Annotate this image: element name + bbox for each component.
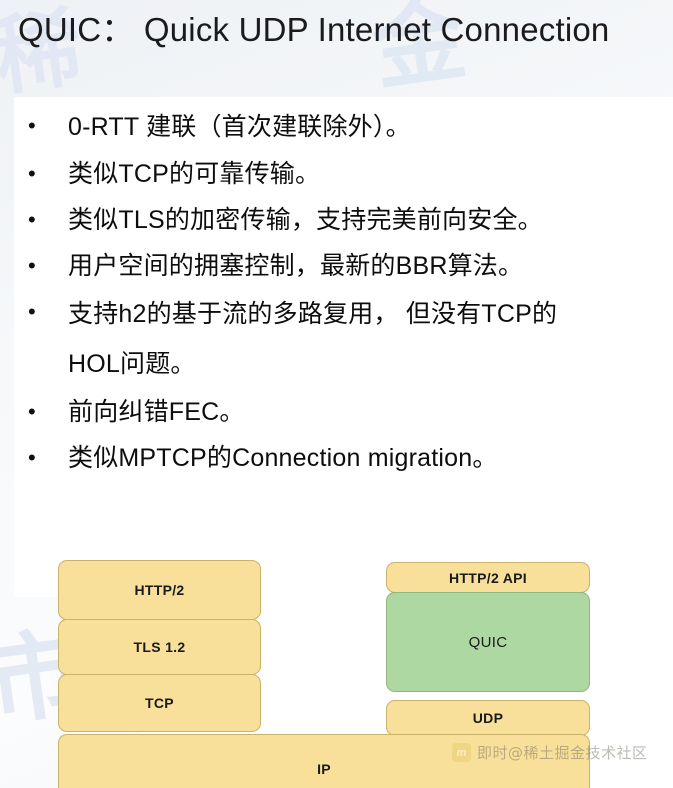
stack-box-tcp[interactable]: TCP — [58, 674, 261, 732]
slide-title: QUIC： Quick UDP Internet Connection — [18, 8, 668, 52]
bullet-marker-icon: • — [28, 197, 36, 243]
list-item-text: 类似TLS的加密传输，支持完美前向安全。 — [68, 197, 543, 243]
bullet-marker-icon: • — [28, 151, 36, 197]
stack-box-quic[interactable]: QUIC — [386, 592, 590, 692]
list-item: • 类似TCP的可靠传输。 — [14, 151, 673, 197]
stack-box-udp[interactable]: UDP — [386, 700, 590, 736]
stack-box-ip[interactable]: IP — [58, 734, 590, 788]
bullet-marker-icon: • — [28, 435, 36, 481]
slide-canvas: 稀 金 市 青 技 QUIC： Quick UDP Internet Conne… — [0, 0, 673, 788]
list-item: • 用户空间的拥塞控制，最新的BBR算法。 — [14, 243, 673, 289]
list-item: • 前向纠错FEC。 — [14, 389, 673, 435]
list-item: • 支持h2的基于流的多路复用， 但没有TCP的 HOL问题。 — [14, 289, 673, 389]
bullet-marker-icon: • — [28, 243, 36, 289]
bullet-marker-icon: • — [28, 389, 36, 435]
list-item: • 0-RTT 建联（首次建联除外）。 — [14, 103, 673, 151]
bullet-marker-icon: • — [28, 103, 36, 149]
list-item: • 类似MPTCP的Connection migration。 — [14, 435, 673, 481]
list-item-text: 类似MPTCP的Connection migration。 — [68, 435, 498, 481]
bullet-marker-icon: • — [28, 289, 36, 335]
bullet-list: • 0-RTT 建联（首次建联除外）。 • 类似TCP的可靠传输。 • 类似TL… — [14, 103, 673, 481]
stack-box-tls12[interactable]: TLS 1.2 — [58, 619, 261, 675]
list-item-text: 0-RTT 建联（首次建联除外）。 — [68, 103, 411, 151]
list-item-text: 类似TCP的可靠传输。 — [68, 151, 320, 197]
list-item-text: 前向纠错FEC。 — [68, 389, 245, 435]
stack-box-http2-api[interactable]: HTTP/2 API — [386, 562, 590, 593]
list-item-text: 用户空间的拥塞控制，最新的BBR算法。 — [68, 243, 523, 289]
list-item-text: 支持h2的基于流的多路复用， 但没有TCP的 HOL问题。 — [68, 289, 557, 389]
list-item: • 类似TLS的加密传输，支持完美前向安全。 — [14, 197, 673, 243]
stack-box-http2[interactable]: HTTP/2 — [58, 560, 261, 620]
